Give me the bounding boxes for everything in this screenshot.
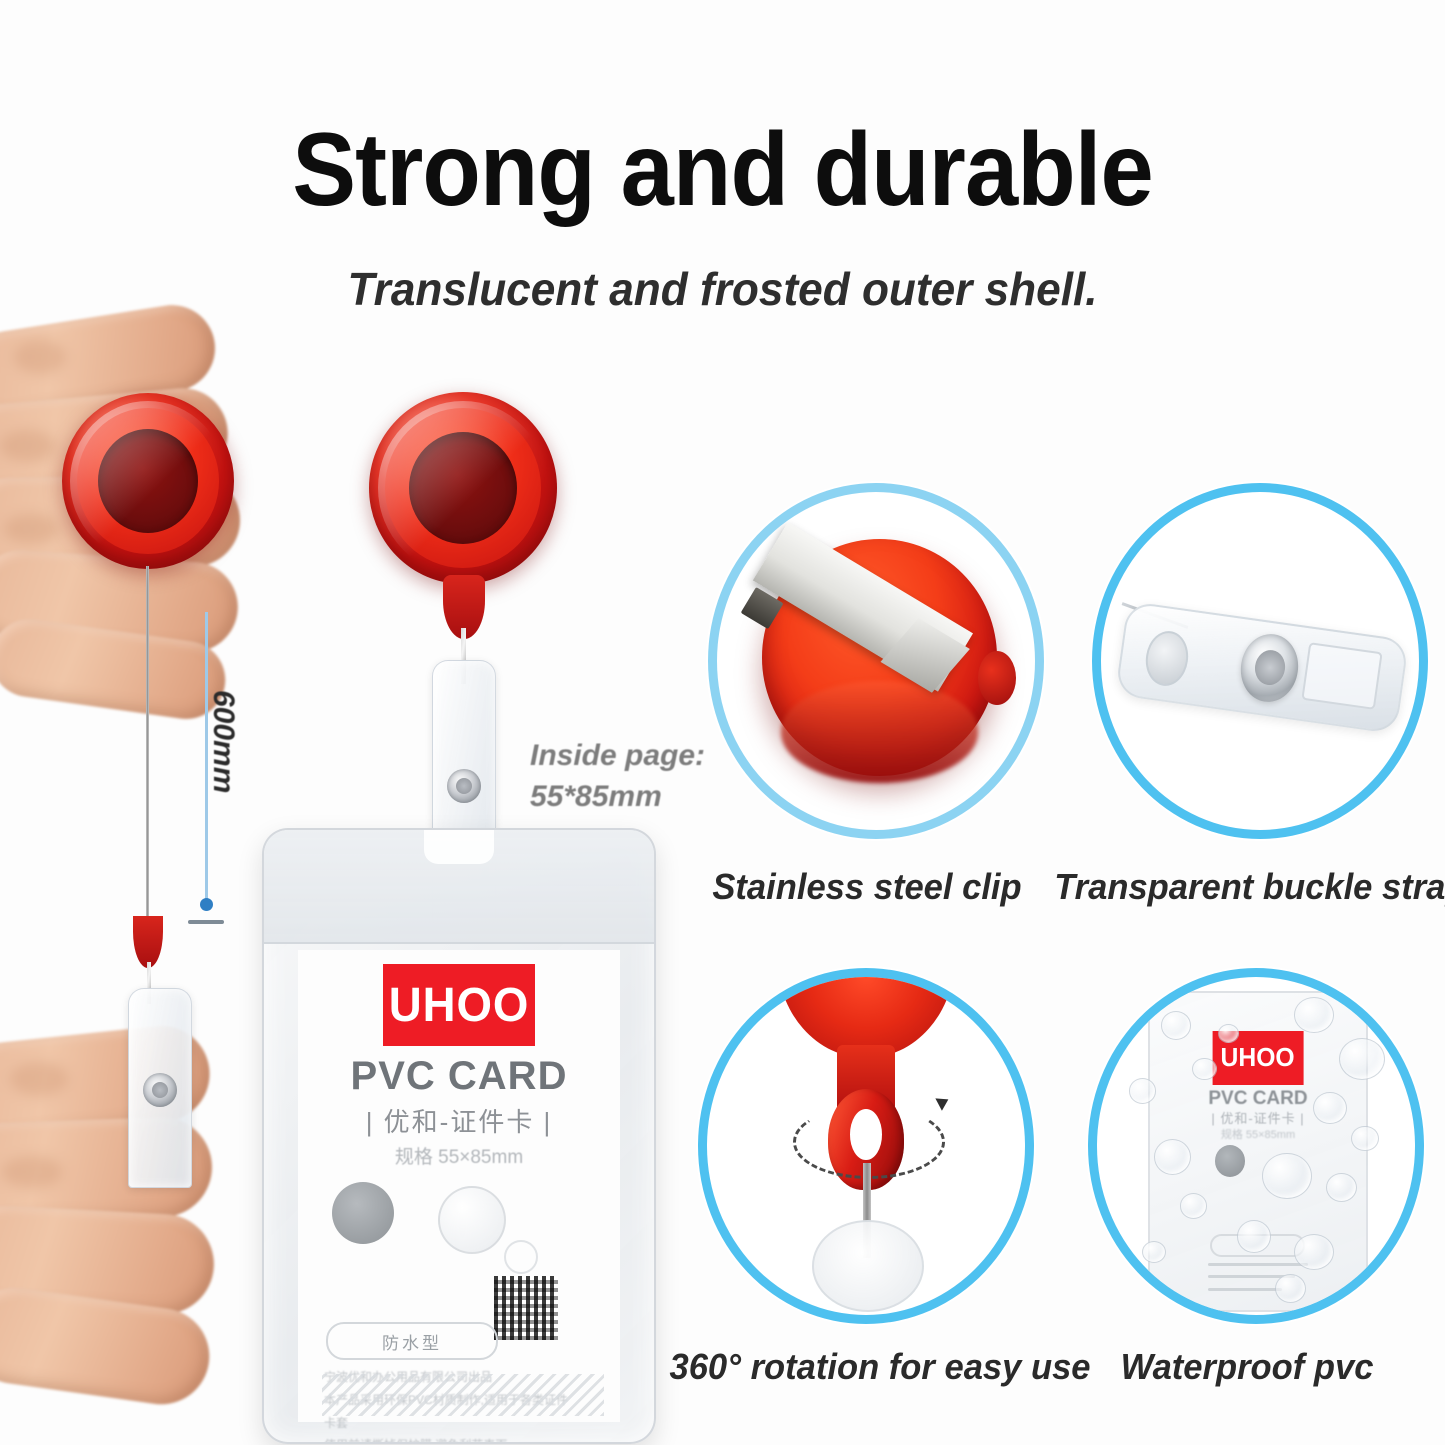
page-title: Strong and durable [58,118,1387,222]
rotation-arrowhead-icon [935,1094,951,1112]
decorative-bubble-small-icon [504,1240,538,1274]
badge-reel-product [369,392,557,584]
uhoo-logo-text-small: UHOO [1221,1042,1295,1073]
feature-caption-4: Waterproof pvc [1094,1346,1399,1388]
water-droplet-icon [1180,1193,1207,1219]
dimension-arrow-dot [200,898,213,911]
transparent-buckle-strap-held [128,988,192,1188]
water-droplet-icon [1326,1173,1357,1202]
reel-gloss [70,401,226,561]
pvc-card-label: PVC CARD [351,1054,568,1099]
dimension-tick [188,920,224,924]
feature-caption-2: Transparent buckle strap [1054,866,1445,908]
uhoo-logo-text: UHOO [389,978,530,1033]
water-droplet-icon [1161,1011,1192,1040]
decorative-bubble-icon [438,1186,506,1254]
holder-slot [424,828,494,864]
reel-side-nub [978,651,1016,705]
water-droplet-icon [1154,1139,1191,1175]
feature-circle-1 [708,483,1044,839]
waterproof-badge-pill: 防水型 [326,1322,498,1360]
inside-page-note: Inside page: 55*85mm [530,736,705,817]
water-droplet-icon [1262,1153,1312,1199]
fineprint-line [1208,1288,1282,1291]
reel-gloss [378,401,548,575]
card-insert: UHOO PVC CARD | 优和-证件卡 | 规格 55×85mm 防水型 … [298,950,620,1422]
badge-reel-in-hand [62,393,234,569]
fineprint-line [1208,1263,1307,1266]
qr-code-icon [494,1276,558,1340]
water-droplet-icon [1192,1058,1216,1080]
hatch-pattern [322,1374,604,1416]
water-droplet-icon [1294,1234,1334,1270]
water-droplet-icon [1237,1220,1271,1252]
water-droplet-icon [1218,1024,1239,1043]
water-droplet-icon [1129,1078,1156,1104]
water-droplet-icon [1275,1274,1306,1303]
infographic-canvas: Strong and durable Translucent and frost… [0,0,1445,1445]
strap-snap-button [447,769,481,803]
water-droplet-icon [1351,1126,1378,1152]
chinese-name-label-small: | 优和-证件卡 | [1211,1108,1304,1127]
feature-caption-3: 360° rotation for easy use [665,1346,1095,1388]
feature-caption-1: Stainless steel clip [693,866,1041,908]
reel-cord-left [146,566,149,921]
feature-circle-2 [1092,483,1428,839]
feature-circle-3 [698,968,1034,1324]
water-droplet-icon [1313,1092,1347,1124]
cord-length-label: 600mm [206,690,240,793]
water-droplet-icon [1142,1241,1166,1263]
strap-snap-button [143,1073,177,1107]
feature-circle-4: UHOO PVC CARD | 优和-证件卡 | 规格 55×85mm [1088,968,1424,1324]
strap-disc [812,1220,924,1312]
chinese-name-label: | 优和-证件卡 | [366,1102,553,1139]
gray-seal-icon [332,1182,394,1244]
reel-hook-left [133,916,163,968]
strap-tab [1301,643,1382,711]
reel-rib [781,681,978,782]
pvc-card-holder: UHOO PVC CARD | 优和-证件卡 | 规格 55×85mm 防水型 … [262,828,656,1444]
uhoo-logo-box: UHOO [383,964,535,1046]
gray-seal-icon-small [1215,1145,1245,1177]
pvc-card-label-small: PVC CARD [1208,1088,1307,1110]
water-droplet-icon [1339,1038,1386,1081]
hand-holding-strap-photo [0,1020,250,1420]
card-size-label: 规格 55×85mm [395,1142,523,1169]
card-size-label-small: 规格 55×85mm [1221,1126,1295,1142]
